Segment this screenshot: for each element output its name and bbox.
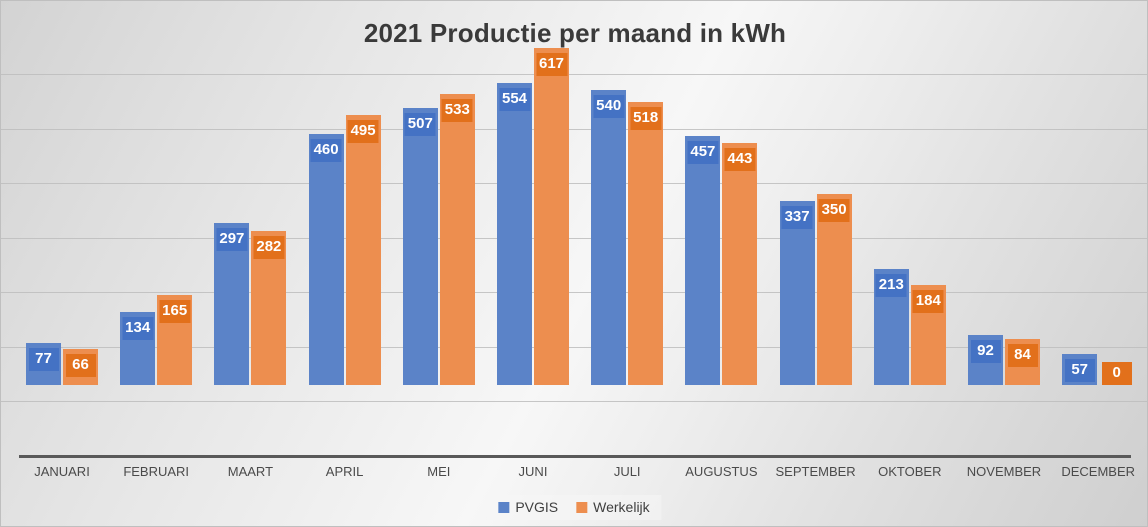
category-label-december: DECEMBER	[1051, 464, 1145, 479]
category-label-maart: MAART	[203, 464, 297, 479]
bar-werkelijk-juni[interactable]: 617	[534, 48, 569, 385]
bar-value-label: 554	[499, 88, 530, 111]
bar-werkelijk-juli[interactable]: 518	[628, 102, 663, 385]
bar-group: 540518	[591, 2, 663, 385]
bar-value-label: 84	[1008, 344, 1038, 367]
chart-container: 2021 Productie per maand in kWh 77661341…	[0, 0, 1148, 527]
bar-value-label: 540	[593, 95, 624, 118]
legend-swatch-pvgis-icon	[498, 502, 509, 513]
bar-group: 9284	[968, 2, 1040, 385]
chart-legend[interactable]: PVGISWerkelijk	[486, 495, 661, 520]
bar-group: 554617	[497, 2, 569, 385]
bar-pvgis-augustus[interactable]: 457	[685, 136, 720, 385]
bar-pvgis-november[interactable]: 92	[968, 335, 1003, 385]
bar-group: 460495	[309, 2, 381, 385]
legend-swatch-werkelijk-icon	[576, 502, 587, 513]
bar-werkelijk-april[interactable]: 495	[346, 115, 381, 385]
bar-value-label: 617	[536, 53, 567, 76]
bar-value-label: 66	[66, 354, 96, 377]
bar-value-label: 213	[876, 274, 907, 297]
bar-value-label: 77	[29, 348, 59, 371]
bar-value-label: 350	[819, 199, 850, 222]
bar-werkelijk-januari[interactable]: 66	[63, 349, 98, 385]
bar-value-label: 443	[724, 148, 755, 171]
bar-value-label: 92	[971, 340, 1001, 363]
bars-layer: 7766134165297282460495507533554617540518…	[1, 1, 1148, 457]
bar-pvgis-december[interactable]: 57	[1062, 354, 1097, 385]
legend-item-pvgis[interactable]: PVGIS	[498, 499, 558, 515]
bar-value-label: 134	[122, 317, 153, 340]
category-label-mei: MEI	[392, 464, 486, 479]
bar-value-label: 57	[1065, 359, 1095, 382]
bar-value-label: 507	[405, 113, 436, 136]
bar-pvgis-april[interactable]: 460	[309, 134, 344, 385]
bar-value-label: 518	[630, 107, 661, 130]
legend-label: PVGIS	[515, 499, 558, 515]
bar-pvgis-oktober[interactable]: 213	[874, 269, 909, 385]
bar-werkelijk-maart[interactable]: 282	[251, 231, 286, 385]
bar-group: 570	[1062, 2, 1134, 385]
bar-group: 297282	[214, 2, 286, 385]
bar-value-label: 165	[159, 300, 190, 323]
bar-value-label: 337	[782, 206, 813, 229]
bar-value-label: 533	[442, 99, 473, 122]
category-label-oktober: OKTOBER	[863, 464, 957, 479]
category-label-juli: JULI	[580, 464, 674, 479]
bar-value-label: 0	[1102, 362, 1132, 385]
bar-group: 337350	[780, 2, 852, 385]
category-label-juni: JUNI	[486, 464, 580, 479]
bar-pvgis-mei[interactable]: 507	[403, 108, 438, 385]
bar-group: 213184	[874, 2, 946, 385]
bar-werkelijk-november[interactable]: 84	[1005, 339, 1040, 385]
bar-value-label: 495	[348, 120, 379, 143]
bar-value-label: 297	[216, 228, 247, 251]
category-label-april: APRIL	[298, 464, 392, 479]
category-label-september: SEPTEMBER	[769, 464, 863, 479]
bar-werkelijk-september[interactable]: 350	[817, 194, 852, 385]
bar-group: 457443	[685, 2, 757, 385]
bar-value-label: 457	[687, 141, 718, 164]
category-axis-labels: JANUARIFEBRUARIMAARTAPRILMEIJUNIJULIAUGU…	[1, 464, 1148, 486]
bar-werkelijk-mei[interactable]: 533	[440, 94, 475, 385]
category-label-februari: FEBRUARI	[109, 464, 203, 479]
bar-group: 134165	[120, 2, 192, 385]
bar-value-label: 184	[913, 290, 944, 313]
bar-werkelijk-augustus[interactable]: 443	[722, 143, 757, 385]
category-label-augustus: AUGUSTUS	[674, 464, 768, 479]
bar-group: 7766	[26, 2, 98, 385]
category-label-november: NOVEMBER	[957, 464, 1051, 479]
bar-pvgis-januari[interactable]: 77	[26, 343, 61, 385]
bar-werkelijk-oktober[interactable]: 184	[911, 285, 946, 385]
bar-value-label: 282	[253, 236, 284, 259]
bar-value-label: 460	[311, 139, 342, 162]
bar-pvgis-juli[interactable]: 540	[591, 90, 626, 385]
bar-pvgis-september[interactable]: 337	[780, 201, 815, 385]
bar-pvgis-maart[interactable]: 297	[214, 223, 249, 385]
legend-label: Werkelijk	[593, 499, 650, 515]
category-label-januari: JANUARI	[15, 464, 109, 479]
bar-group: 507533	[403, 2, 475, 385]
bar-werkelijk-februari[interactable]: 165	[157, 295, 192, 385]
legend-item-werkelijk[interactable]: Werkelijk	[576, 499, 650, 515]
bar-pvgis-juni[interactable]: 554	[497, 83, 532, 385]
bar-pvgis-februari[interactable]: 134	[120, 312, 155, 385]
